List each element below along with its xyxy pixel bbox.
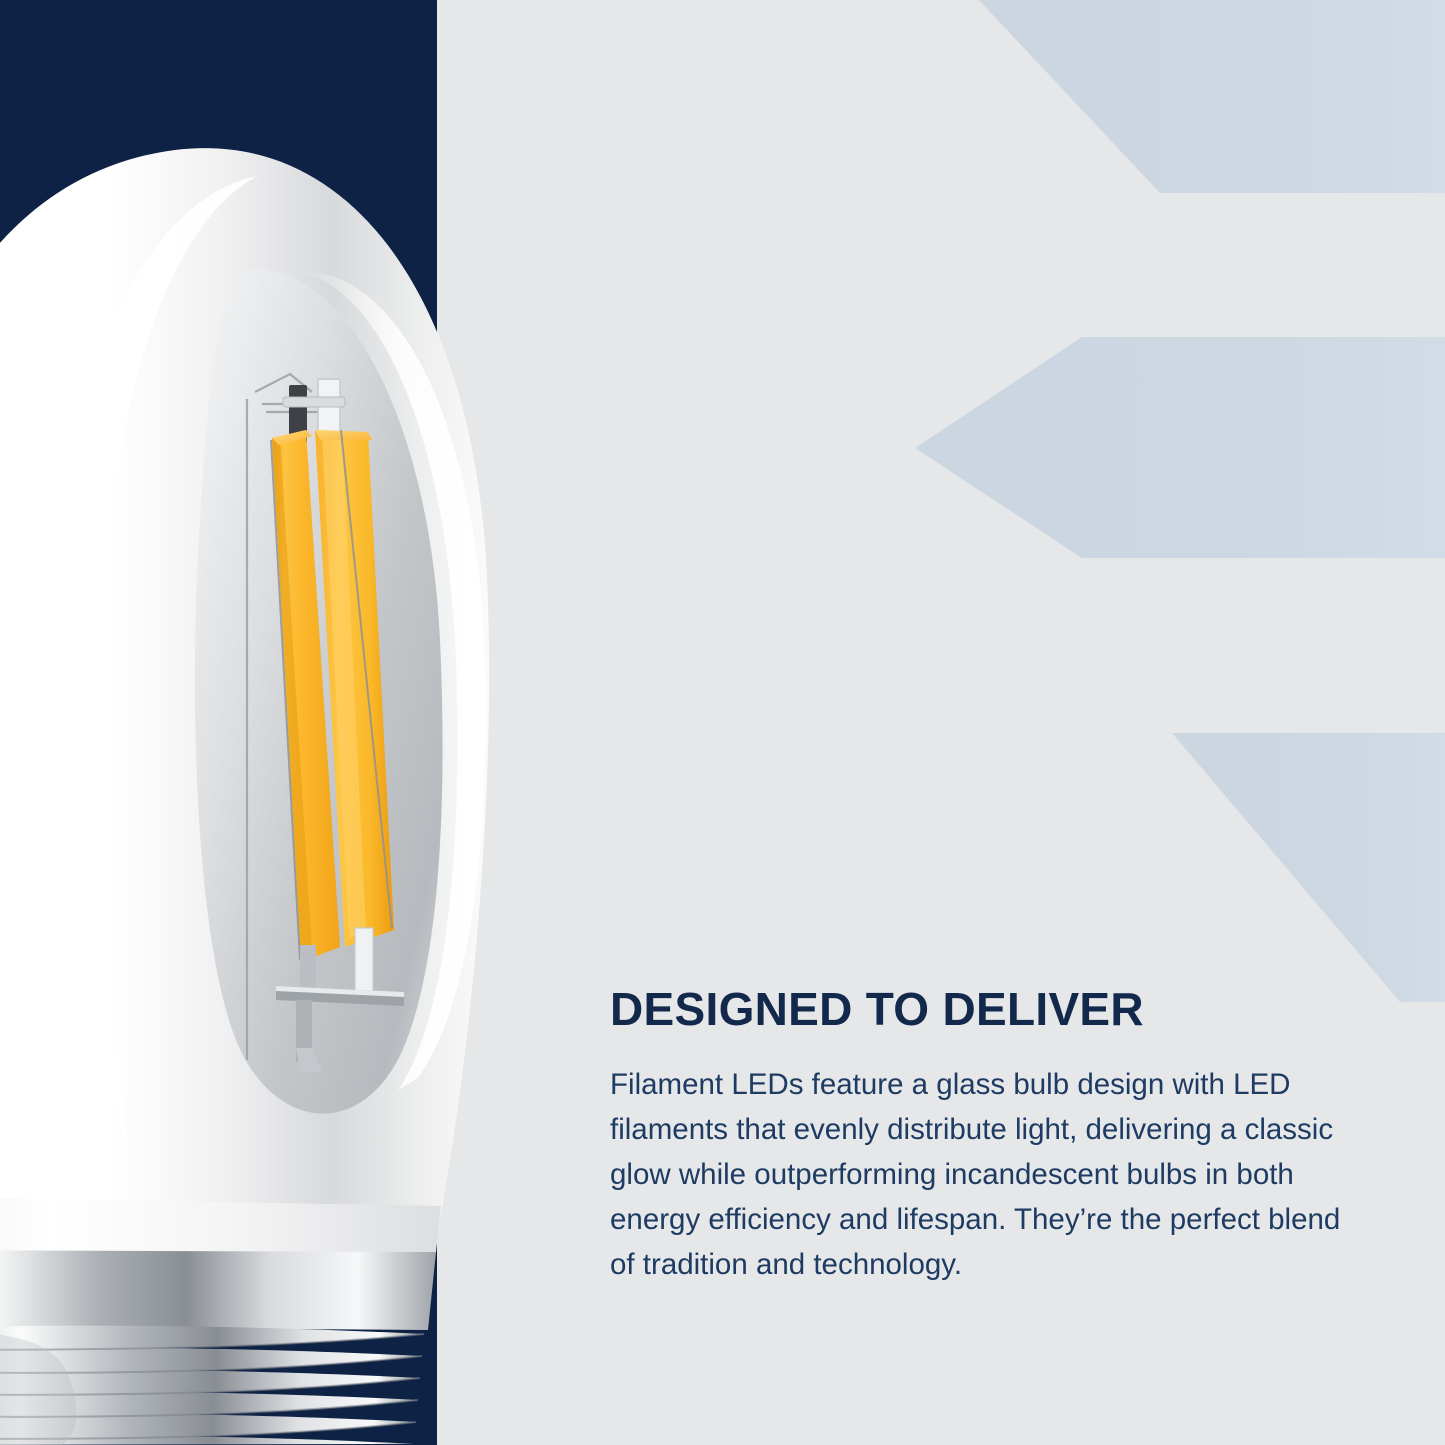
marketing-hero-canvas: DESIGNED TO DELIVER Filament LEDs featur… bbox=[0, 0, 1445, 1445]
chevron-band-bottom bbox=[1172, 733, 1445, 1002]
copy-block: DESIGNED TO DELIVER Filament LEDs featur… bbox=[610, 985, 1370, 1287]
bulb-base-chrome-ring bbox=[0, 1250, 436, 1330]
filament-stem-right bbox=[355, 928, 373, 992]
chevron-band-middle bbox=[915, 337, 1445, 558]
body-paragraph: Filament LEDs feature a glass bulb desig… bbox=[610, 1063, 1370, 1287]
led-filament-bulb-image bbox=[0, 0, 600, 1445]
chevron-band-top bbox=[960, 0, 1445, 193]
page-title: DESIGNED TO DELIVER bbox=[610, 985, 1370, 1033]
